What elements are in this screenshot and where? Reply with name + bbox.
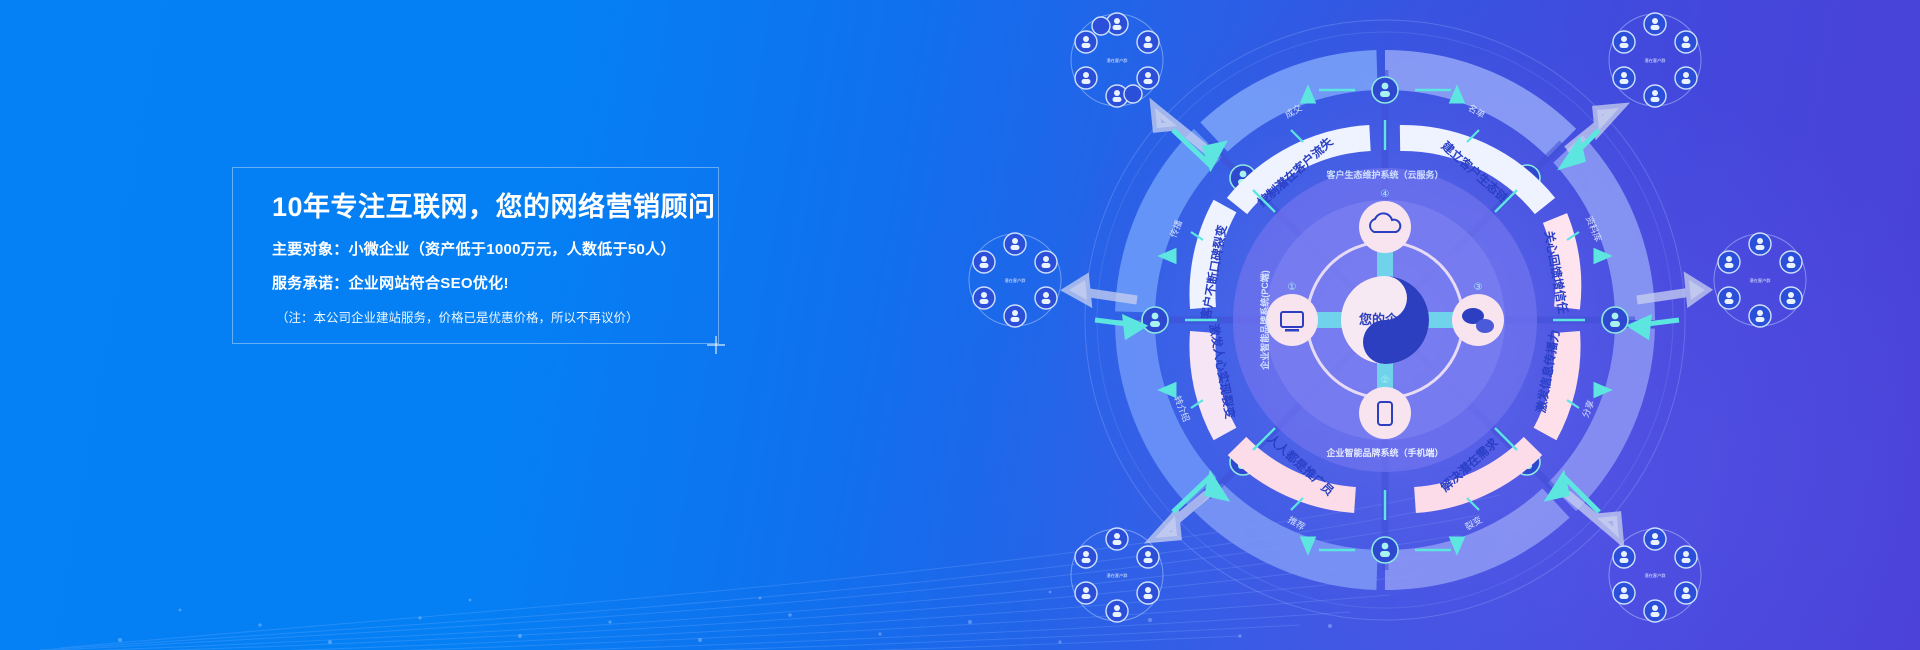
text-panel-content: 10年专注互联网，您的网络营销顾问 主要对象：小微企业（资产低于1000万元，人… [252, 167, 772, 326]
promo-banner: 10年专注互联网，您的网络营销顾问 主要对象：小微企业（资产低于1000万元，人… [0, 0, 1920, 650]
satellite-cluster: 潜在客户群 [1071, 13, 1163, 107]
satellite-cluster: 潜在客户群 [1071, 528, 1163, 622]
core-node-label: 企业智能品牌系统（手机端） [1325, 447, 1443, 458]
center-label: 您的企业 [1359, 312, 1411, 327]
satellite-cluster: 潜在客户群 [969, 233, 1061, 327]
satellite-cluster: 潜在客户群 [1714, 233, 1806, 327]
page-title: 10年专注互联网，您的网络营销顾问 [252, 167, 772, 225]
main-object-line: 主要对象：小微企业（资产低于1000万元，人数低于50人） [252, 225, 772, 259]
satellite-cluster-label: 潜在客户群 [1107, 572, 1129, 579]
pricing-note: （注：本公司企业建站服务，价格已是优惠价格，所以不再议价） [252, 293, 772, 326]
core-node-number: ① [1288, 282, 1297, 293]
core-node-label: 客户生态维护系统（云服务） [1325, 169, 1443, 180]
satellite-cluster-label: 潜在客户群 [1645, 572, 1667, 579]
core-node-number: ② [1381, 375, 1390, 386]
satellite-cluster-label: 潜在客户群 [1750, 277, 1772, 284]
core-node-number: ③ [1474, 282, 1483, 293]
satellite-cluster: 潜在客户群 [1609, 528, 1701, 622]
satellite-cluster-label: 潜在客户群 [1107, 57, 1129, 64]
satellite-cluster: 潜在客户群 [1609, 13, 1701, 107]
inner-left-label: 企业智能品牌系统(PC端) [1259, 270, 1270, 371]
satellite-cluster-label: 潜在客户群 [1645, 57, 1667, 64]
satellite-cluster-label: 潜在客户群 [1005, 277, 1027, 284]
service-promise-line: 服务承诺：企业网站符合SEO优化! [252, 259, 772, 293]
core-node-number: ④ [1381, 189, 1390, 200]
center-node: 您的企业 [1341, 276, 1429, 364]
ecosystem-wheel-diagram: 名单 资料库 分享 裂变 推荐 转介绍 传播 成交 [855, 0, 1920, 650]
